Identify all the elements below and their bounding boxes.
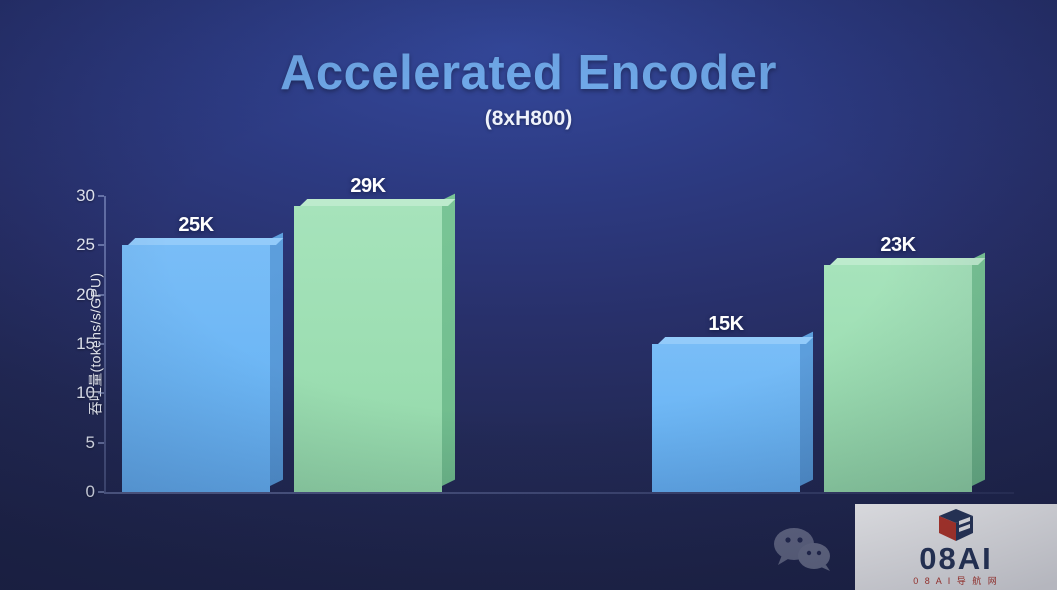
y-axis-tick-label: 5: [86, 433, 95, 453]
page-subtitle: (8xH800): [0, 107, 1057, 131]
bar-value-label: 15K: [708, 313, 743, 336]
y-axis-tick-mark: [98, 244, 104, 246]
bar-top-face: [658, 337, 813, 344]
bar-front-face: [294, 206, 442, 492]
bar-top-face: [128, 238, 283, 245]
bar-front-face: [652, 344, 800, 492]
bar-green-23k[interactable]: 23K: [824, 265, 972, 492]
y-axis-tick-mark: [98, 195, 104, 197]
bar-blue-25k[interactable]: 25K: [122, 245, 270, 492]
logo-wordmark: 08AI: [919, 543, 992, 574]
bar-front-face: [122, 245, 270, 492]
y-axis-tick-label: 0: [86, 482, 95, 502]
chart-plot-area: 吞吐量(tokens/s/GPU) 051015202530 25K29K15K…: [104, 196, 1014, 492]
bar-value-label: 23K: [880, 234, 915, 257]
logo-watermark: 08AI 0 8 A I 导 航 网: [855, 504, 1057, 590]
slide-canvas: Accelerated Encoder (8xH800) 吞吐量(tokens/…: [0, 0, 1057, 590]
x-axis-line: [104, 492, 1014, 494]
bar-blue-15k[interactable]: 15K: [652, 344, 800, 492]
y-axis-tick-mark: [98, 491, 104, 493]
y-axis-tick-mark: [98, 442, 104, 444]
bar-value-label: 25K: [178, 214, 213, 237]
logo-subtext: 0 8 A I 导 航 网: [913, 577, 999, 586]
y-axis-tick-label: 10: [76, 383, 95, 403]
y-axis-tick-label: 30: [76, 186, 95, 206]
y-axis-tick-mark: [98, 343, 104, 345]
bar-front-face: [824, 265, 972, 492]
title-block: Accelerated Encoder (8xH800): [0, 48, 1057, 131]
bar-value-label: 29K: [350, 175, 385, 198]
bar-side-face: [442, 194, 455, 486]
bar-side-face: [972, 253, 985, 486]
cube-logo-icon: [935, 508, 977, 542]
page-title: Accelerated Encoder: [0, 48, 1057, 99]
y-axis-tick-label: 20: [76, 285, 95, 305]
y-axis-tick-mark: [98, 392, 104, 394]
y-axis-tick-label: 15: [76, 334, 95, 354]
y-axis-tick-label: 25: [76, 235, 95, 255]
bar-side-face: [270, 233, 283, 486]
bar-green-29k[interactable]: 29K: [294, 206, 442, 492]
bar-side-face: [800, 332, 813, 486]
bar-top-face: [830, 258, 985, 265]
wechat-icon: [770, 525, 836, 571]
bar-top-face: [300, 199, 455, 206]
y-axis-tick-mark: [98, 294, 104, 296]
